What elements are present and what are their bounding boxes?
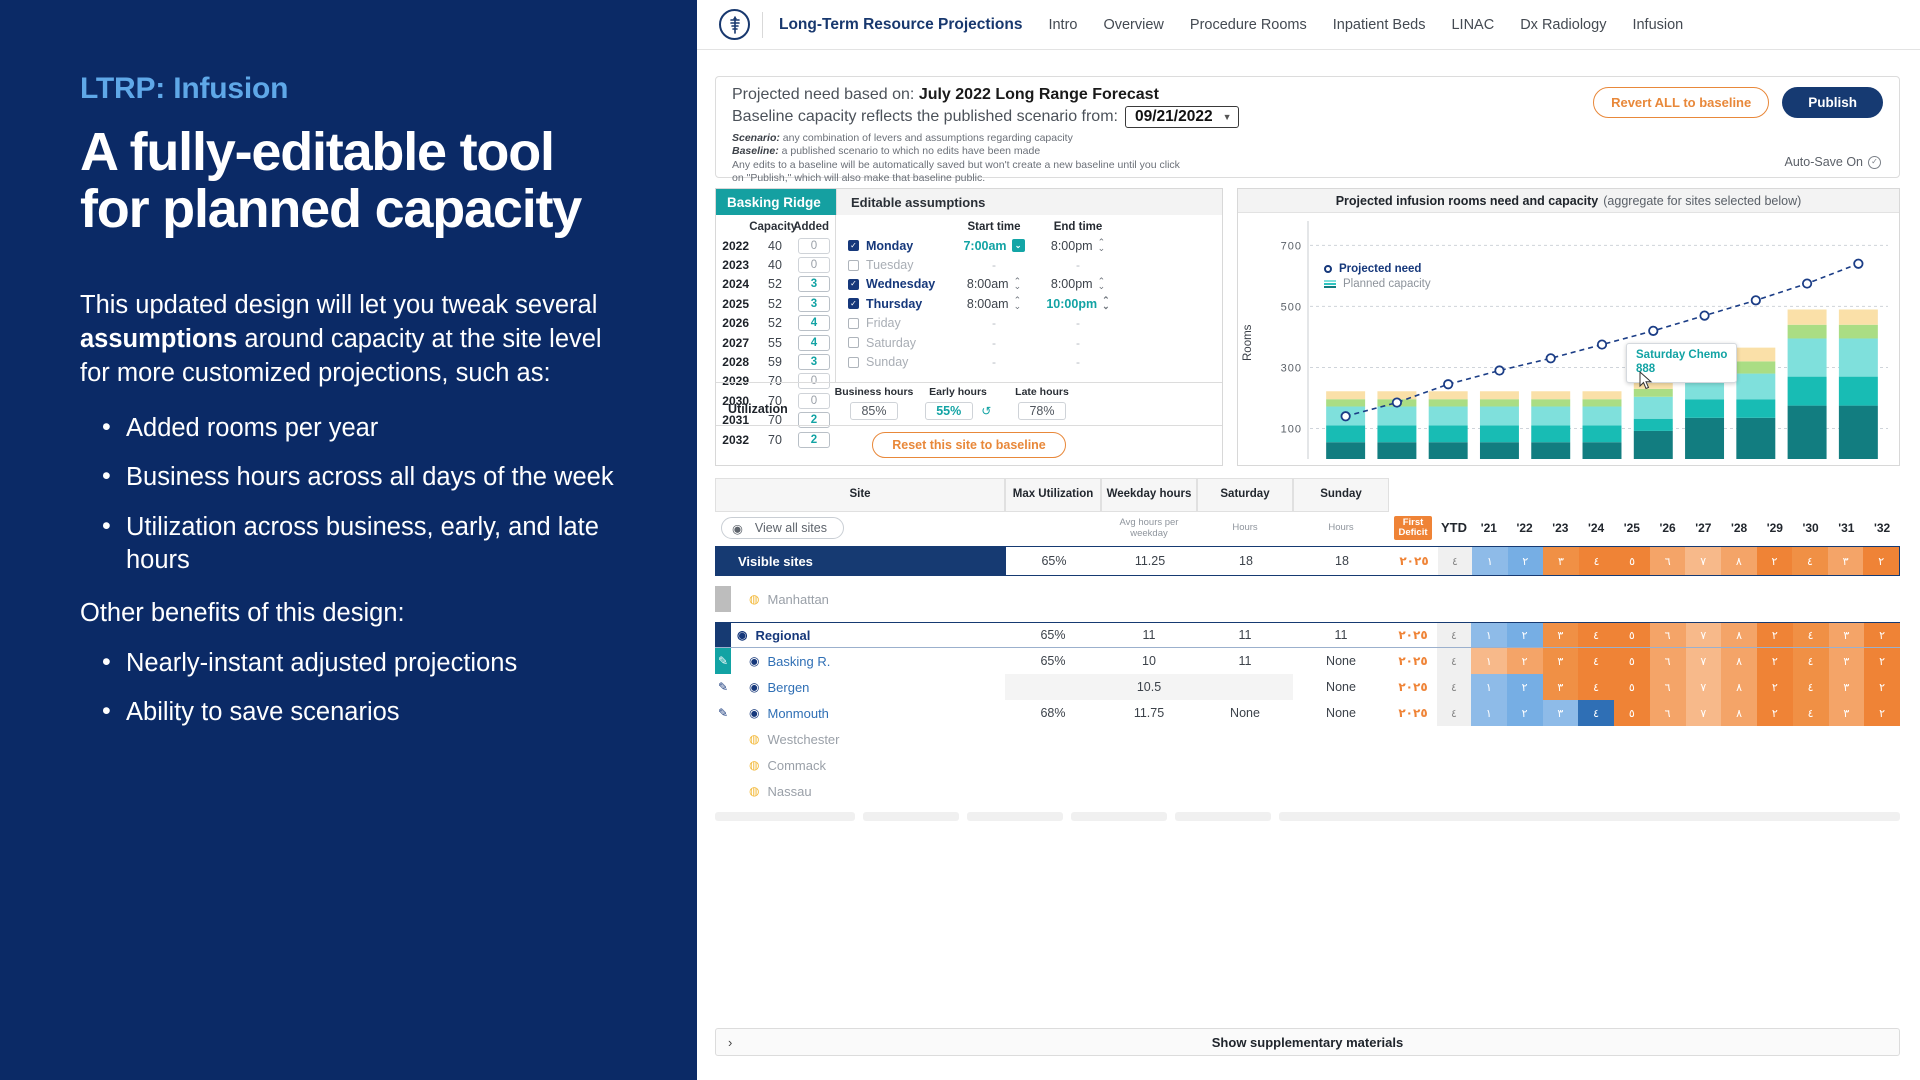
nav-title: Long-Term Resource Projections: [779, 16, 1022, 34]
year-label: 2022: [716, 239, 754, 253]
day-label: Saturday: [866, 336, 916, 350]
assumptions-panel-title: Editable assumptions: [836, 189, 1222, 215]
scenario-actions: Revert ALL to baseline Publish: [1593, 87, 1883, 118]
eye-icon[interactable]: ◉: [749, 654, 759, 668]
early-utilization-input[interactable]: 55%: [925, 402, 973, 420]
stepper-icon[interactable]: ⌃⌄: [1102, 298, 1110, 309]
col-end-time: End time: [1036, 221, 1120, 233]
chart-legend: Projected need Planned capacity: [1324, 263, 1431, 293]
editable-assumptions-card: Basking Ridge Editable assumptions Capac…: [715, 188, 1223, 466]
chart-y-axis-label: Rooms: [1242, 325, 1254, 361]
heat-cell: ٣: [1828, 547, 1864, 575]
heat-cell: ٢: [1864, 674, 1900, 700]
col-year: [716, 221, 749, 233]
capacity-row: 2027554: [716, 333, 835, 352]
stepper-icon[interactable]: ⌃⌄: [1098, 240, 1106, 251]
site-name-cell[interactable]: ◉Monmouth: [731, 700, 1005, 726]
year-column-label: '29: [1757, 521, 1793, 535]
pencil-icon[interactable]: ✎: [718, 680, 728, 694]
heat-cell: ٨: [1721, 648, 1757, 674]
heat-cell: ٣: [1543, 547, 1579, 575]
cell-weekday: [1101, 752, 1197, 778]
site-rows: Visible sites65%11.251818٢٠٢٥٤١٢٣٤٥٦٧٨٢٤…: [715, 546, 1900, 804]
assumptions-body: Capacity Added 2022400202340020245232025…: [716, 215, 1222, 382]
year-column-labels: '21'22'23'24'25'26'27'28'29'30'31'32: [1471, 521, 1900, 535]
day-checkbox[interactable]: [848, 318, 859, 329]
day-label: Friday: [866, 316, 901, 330]
day-checkbox[interactable]: [848, 357, 859, 368]
reset-site-button[interactable]: Reset this site to baseline: [872, 432, 1066, 458]
site-name-cell[interactable]: ◍Manhattan: [731, 586, 1005, 612]
table-row[interactable]: ◉Regional65%111111٢٠٢٥٤١٢٣٤٥٦٧٨٢٤٣٢: [715, 622, 1900, 648]
heat-cell: ٢: [1507, 648, 1543, 674]
sub-ytd: YTD: [1437, 520, 1471, 536]
start-time-cell[interactable]: 7:00am⌄: [952, 239, 1036, 253]
cell-saturday: [1197, 674, 1293, 700]
cell-weekday: 10.5: [1101, 674, 1197, 700]
nav-link-intro[interactable]: Intro: [1048, 17, 1077, 33]
cell-sunday: None: [1293, 700, 1389, 726]
heat-ytd: ٤: [1437, 623, 1471, 647]
cell-weekday: [1101, 726, 1197, 752]
heat-cell: ٧: [1686, 648, 1722, 674]
day-checkbox[interactable]: [848, 337, 859, 348]
heat-cell: ٥: [1614, 547, 1650, 575]
baseline-label: Baseline capacity reflects the published…: [732, 108, 1118, 126]
heat-cell: ٤: [1579, 547, 1615, 575]
heat-cell: ٣: [1829, 648, 1865, 674]
heat-strip-empty: [1437, 586, 1900, 612]
table-header-row: Site Max Utilization Weekday hours Satur…: [715, 478, 1900, 512]
cell-first-deficit: [1389, 586, 1437, 612]
cell-max_util: [1005, 726, 1101, 752]
late-utilization-input[interactable]: 78%: [1018, 402, 1066, 420]
legend-marker-circle-icon: [1324, 265, 1332, 273]
table-row[interactable]: ◍Nassau: [715, 778, 1900, 804]
chart-tooltip: Saturday Chemo 888: [1626, 343, 1737, 383]
heat-strip: ١٢٣٤٥٦٧٨٢٤٣٢: [1471, 623, 1900, 647]
heat-ytd: ٤: [1437, 674, 1471, 700]
revert-all-button[interactable]: Revert ALL to baseline: [1593, 87, 1769, 118]
heat-cell: ١: [1472, 547, 1508, 575]
eye-icon: ◉: [732, 521, 743, 536]
table-row[interactable]: ✎◉Basking R.65%1011None٢٠٢٥٤١٢٣٤٥٦٧٨٢٤٣٢: [715, 648, 1900, 674]
header-max-utilization: Max Utilization: [1005, 478, 1101, 512]
day-checkbox[interactable]: [848, 279, 859, 290]
list-item: Ability to save scenarios: [80, 696, 619, 729]
capacity-row: 2028593: [716, 352, 835, 371]
forecast-label: Projected need based on:: [732, 86, 914, 103]
cell-weekday: [1101, 586, 1197, 612]
cell-saturday: 11: [1197, 648, 1293, 674]
chart-title: Projected infusion rooms need and capaci…: [1238, 189, 1899, 213]
day-row: Thursday8:00am⌃⌄10:00pm⌃⌄: [848, 294, 1212, 313]
cell-sunday: 11: [1293, 623, 1389, 647]
heat-cell: ٧: [1685, 547, 1721, 575]
cell-weekday: 11.25: [1102, 547, 1198, 575]
stepper-icon[interactable]: ⌃⌄: [1014, 279, 1022, 290]
stepper-icon[interactable]: ⌃⌄: [1098, 279, 1106, 290]
header-sunday: Sunday: [1293, 478, 1389, 512]
legend-item-planned-capacity: Planned capacity: [1324, 278, 1431, 290]
added-cell: 4: [796, 315, 832, 331]
heat-ytd: ٤: [1438, 547, 1472, 575]
slide-root: LTRP: Infusion A fully-editable tool for…: [0, 0, 1920, 1080]
end-time-cell: -: [1036, 355, 1120, 369]
svg-text:700: 700: [1281, 240, 1302, 252]
day-hours-table: Start time End time Monday7:00am⌄8:00pm⌃…: [836, 215, 1222, 382]
year-column-label: '32: [1864, 521, 1900, 535]
note-text: any combination of levers and assumption…: [780, 132, 1073, 144]
cell-saturday: [1197, 726, 1293, 752]
heat-cell: ٦: [1650, 547, 1686, 575]
heat-cell: ٨: [1721, 674, 1757, 700]
day-checkbox[interactable]: [848, 298, 859, 309]
added-cell: 3: [796, 354, 832, 370]
show-supplementary-materials-button[interactable]: › Show supplementary materials: [715, 1028, 1900, 1056]
first-deficit-label: FirstDeficit: [1394, 516, 1431, 541]
heat-cell: ٤: [1792, 547, 1828, 575]
tooltip-value: 888: [1636, 362, 1727, 376]
start-time-cell[interactable]: 8:00am⌃⌄: [952, 277, 1036, 291]
view-all-sites-label: View all sites: [755, 521, 827, 535]
cell-first-deficit: ٢٠٢٥: [1389, 623, 1437, 647]
day-row: Monday7:00am⌄8:00pm⌃⌄: [848, 236, 1212, 255]
heat-cell: ١: [1471, 648, 1507, 674]
site-name-cell[interactable]: ◍Commack: [731, 752, 1005, 778]
heat-cell: ٧: [1686, 674, 1722, 700]
cell-sunday: None: [1293, 648, 1389, 674]
heat-cell: ٢: [1864, 623, 1900, 647]
utilization-late: Late hours 78%: [1000, 387, 1084, 420]
heat-cell: ٢: [1863, 547, 1899, 575]
nav-link-infusion[interactable]: Infusion: [1632, 17, 1683, 33]
business-hours-caption: Business hours: [832, 387, 916, 399]
stepper-icon[interactable]: ⌃⌄: [1014, 298, 1022, 309]
note-text: a published scenario to which no edits h…: [779, 145, 1041, 157]
added-rooms-input[interactable]: 3: [798, 354, 830, 370]
added-cell: 3: [796, 276, 832, 292]
end-time-cell: -: [1036, 258, 1120, 272]
eye-icon[interactable]: ◉: [737, 628, 747, 642]
year-column-label: '30: [1793, 521, 1829, 535]
end-time-value: 8:00pm: [1051, 277, 1093, 291]
heat-cell: ٢: [1864, 648, 1900, 674]
header-spacer: [1389, 478, 1900, 512]
cell-sunday: [1293, 586, 1389, 612]
legend-item-projected-need: Projected need: [1324, 263, 1431, 275]
year-column-label: '26: [1650, 521, 1686, 535]
end-time-value: 8:00pm: [1051, 239, 1093, 253]
year-label: 2024: [716, 277, 754, 291]
cell-saturday: [1197, 752, 1293, 778]
cell-max_util: [1005, 778, 1101, 804]
nav-link-inpatient-beds[interactable]: Inpatient Beds: [1333, 17, 1426, 33]
stepper-down-icon[interactable]: ⌄: [1012, 239, 1025, 252]
nav-link-procedure-rooms[interactable]: Procedure Rooms: [1190, 17, 1307, 33]
heat-cell: ٦: [1650, 623, 1686, 647]
added-cell: 0: [796, 257, 832, 273]
day-row: Wednesday8:00am⌃⌄8:00pm⌃⌄: [848, 275, 1212, 294]
day-row: Friday--: [848, 314, 1212, 333]
added-cell: 3: [796, 296, 832, 312]
nav-link-linac[interactable]: LINAC: [1451, 17, 1494, 33]
eye-icon[interactable]: ◉: [749, 680, 759, 694]
day-name-cell: Saturday: [848, 336, 952, 350]
start-time-cell: -: [952, 355, 1036, 369]
heat-strip: ١٢٣٤٥٦٧٨٢٤٣٢: [1471, 700, 1900, 726]
added-rooms-input[interactable]: 3: [798, 296, 830, 312]
day-name-cell: Friday: [848, 316, 952, 330]
heat-cell: ٢: [1508, 547, 1544, 575]
start-time-value: 8:00am: [967, 277, 1009, 291]
eye-icon[interactable]: ◉: [749, 706, 759, 720]
heat-cell: ٣: [1543, 648, 1579, 674]
day-name-cell: Tuesday: [848, 258, 952, 272]
day-name-cell: Thursday: [848, 297, 952, 311]
year-column-label: '31: [1829, 521, 1865, 535]
note-scenario: Scenario: any combination of levers and …: [732, 132, 1883, 145]
heat-cell: ١: [1471, 700, 1507, 726]
cell-sunday: [1293, 752, 1389, 778]
end-time-cell[interactable]: 10:00pm⌃⌄: [1036, 297, 1120, 311]
added-rooms-input[interactable]: 0: [798, 257, 830, 273]
end-time-cell: -: [1036, 336, 1120, 350]
site-name-cell[interactable]: ◉Bergen: [731, 674, 1005, 700]
chart-plot-area: Rooms 100300500700 Projected need Planne…: [1238, 213, 1901, 465]
eye-off-icon[interactable]: ◍: [749, 758, 759, 772]
list-item: Added rooms per year: [80, 412, 619, 445]
site-name: Bergen: [767, 680, 809, 695]
table-row[interactable]: ◍Westchester: [715, 726, 1900, 752]
nav-link-dx-radiology[interactable]: Dx Radiology: [1520, 17, 1606, 33]
capacity-value: 40: [754, 258, 796, 272]
header-saturday: Saturday: [1197, 478, 1293, 512]
year-label: 2025: [716, 297, 754, 311]
site-name: Monmouth: [767, 706, 828, 721]
left-text-panel: LTRP: Infusion A fully-editable tool for…: [0, 0, 697, 1080]
slide-paragraph: This updated design will let you tweak s…: [80, 289, 619, 390]
cell-max_util: 68%: [1005, 700, 1101, 726]
cell-saturday: 11: [1197, 623, 1293, 647]
heat-cell: ٧: [1686, 623, 1722, 647]
app-screenshot: Long-Term Resource Projections Intro Ove…: [697, 0, 1920, 1080]
end-time-value: 10:00pm: [1046, 297, 1097, 311]
day-label: Sunday: [866, 355, 908, 369]
year-column-label: '22: [1507, 521, 1543, 535]
cell-weekday: 11: [1101, 623, 1197, 647]
heat-ytd: ٤: [1437, 648, 1471, 674]
day-label: Monday: [866, 239, 913, 253]
heat-cell: ٤: [1578, 674, 1614, 700]
day-row: Tuesday--: [848, 255, 1212, 274]
day-name-cell: Wednesday: [848, 277, 952, 291]
heat-cell: ٤: [1578, 700, 1614, 726]
heat-cell: ٥: [1614, 674, 1650, 700]
end-time-cell[interactable]: 8:00pm⌃⌄: [1036, 277, 1120, 291]
heat-cell: ٥: [1614, 700, 1650, 726]
legend-label: Projected need: [1339, 263, 1421, 275]
heat-cell: ٦: [1650, 648, 1686, 674]
benefits-heading: Other benefits of this design:: [80, 597, 619, 631]
reset-row: Reset this site to baseline: [716, 425, 1222, 465]
site-name: Visible sites: [738, 554, 813, 569]
cell-max_util: [1005, 586, 1101, 612]
cell-max_util: 65%: [1005, 623, 1101, 647]
table-row[interactable]: Visible sites65%11.251818٢٠٢٥٤١٢٣٤٥٦٧٨٢٤…: [715, 546, 1900, 576]
cell-weekday: [1101, 778, 1197, 804]
heat-cell: ٢: [1507, 674, 1543, 700]
site-name-cell[interactable]: ◍Nassau: [731, 778, 1005, 804]
eye-off-icon[interactable]: ◍: [749, 592, 759, 606]
heat-cell: ٣: [1543, 623, 1579, 647]
site-name: Manhattan: [767, 592, 828, 607]
heat-cell: ٢: [1757, 700, 1793, 726]
tab-site-basking-ridge[interactable]: Basking Ridge: [716, 189, 836, 215]
svg-text:500: 500: [1281, 301, 1302, 313]
chart-subtitle: (aggregate for sites selected below): [1603, 194, 1801, 208]
heat-cell: ٧: [1686, 700, 1722, 726]
col-day: [848, 221, 952, 233]
start-time-cell[interactable]: 8:00am⌃⌄: [952, 297, 1036, 311]
paragraph-bold: assumptions: [80, 325, 237, 353]
sub-sunday: Hours: [1293, 522, 1389, 533]
slide-headline: A fully-editable tool for planned capaci…: [80, 124, 619, 237]
sub-saturday: Hours: [1197, 522, 1293, 533]
note-baseline: Baseline: a published scenario to which …: [732, 145, 1883, 158]
capacity-row: 2025523: [716, 294, 835, 313]
utilization-row: Utilization Business hours 85% Early hou…: [716, 382, 1222, 425]
cell-first-deficit: [1389, 726, 1437, 752]
heat-strip-empty: [1437, 778, 1900, 804]
cell-saturday: [1197, 778, 1293, 804]
year-label: 2026: [716, 316, 754, 330]
site-name-cell[interactable]: Visible sites: [732, 547, 1006, 575]
heat-cell: ٢: [1757, 674, 1793, 700]
start-time-value: 7:00am: [963, 239, 1006, 253]
site-name-cell[interactable]: ◍Westchester: [731, 726, 1005, 752]
table-row[interactable]: ◍Commack: [715, 752, 1900, 778]
site-name: Regional: [755, 628, 810, 643]
heat-cell: ٣: [1829, 700, 1865, 726]
site-name-cell[interactable]: ◉Basking R.: [731, 648, 1005, 674]
pencil-icon[interactable]: ✎: [718, 706, 728, 720]
capacity-row: 2022400: [716, 236, 835, 255]
year-label: 2028: [716, 355, 754, 369]
day-name-cell: Sunday: [848, 355, 952, 369]
forecast-value: July 2022 Long Range Forecast: [919, 86, 1159, 103]
added-rooms-input[interactable]: 0: [798, 238, 830, 254]
col-added: Added: [793, 221, 829, 233]
note-plain-2: on "Publish," which will also make that …: [732, 172, 1883, 185]
pencil-icon[interactable]: ✎: [718, 654, 728, 668]
slide-bullet-list: Added rooms per year Business hours acro…: [80, 412, 619, 577]
undo-icon[interactable]: ↺: [981, 404, 991, 418]
day-row: Sunday--: [848, 352, 1212, 371]
eye-off-icon[interactable]: ◍: [749, 732, 759, 746]
chevron-right-icon: ›: [728, 1035, 732, 1050]
capacity-row: 2024523: [716, 275, 835, 294]
sub-weekday-hours: Avg hours per weekday: [1101, 517, 1197, 540]
tooltip-label: Saturday Chemo: [1636, 348, 1727, 362]
start-time-cell: -: [952, 258, 1036, 272]
business-utilization-input[interactable]: 85%: [850, 402, 898, 420]
table-subheader-row: ◉ View all sites Avg hours per weekday H…: [715, 512, 1900, 544]
horizontal-scroll-stub[interactable]: [715, 812, 1900, 821]
capacity-years-table: Capacity Added 2022400202340020245232025…: [716, 215, 836, 382]
heat-cell: ٣: [1543, 674, 1579, 700]
slide-benefits-list: Nearly-instant adjusted projections Abil…: [80, 647, 619, 729]
day-checkbox[interactable]: [848, 240, 859, 251]
late-hours-caption: Late hours: [1000, 387, 1084, 399]
day-checkbox[interactable]: [848, 260, 859, 271]
legend-stack-icon: [1324, 280, 1336, 289]
heat-cell: ٥: [1614, 648, 1650, 674]
nav-divider: [762, 12, 763, 38]
publish-button[interactable]: Publish: [1782, 87, 1883, 118]
baseline-date-select[interactable]: 09/21/2022 ▼: [1125, 106, 1240, 128]
capacity-row: 2023400: [716, 255, 835, 274]
view-all-sites-button[interactable]: ◉ View all sites: [721, 517, 844, 539]
heat-cell: ٦: [1650, 700, 1686, 726]
svg-text:100: 100: [1281, 423, 1302, 435]
scenario-notes: Scenario: any combination of levers and …: [732, 132, 1883, 186]
heat-cell: ٣: [1543, 700, 1579, 726]
heat-cell: ٤: [1793, 700, 1829, 726]
cell-first-deficit: ٢٠٢٥: [1390, 547, 1438, 575]
heat-cell: ٢: [1864, 700, 1900, 726]
added-cell: 4: [796, 335, 832, 351]
heat-cell: ٥: [1614, 623, 1650, 647]
msk-logo-icon[interactable]: [719, 9, 750, 40]
added-rooms-input[interactable]: 3: [798, 276, 830, 292]
projection-chart-card: Projected infusion rooms need and capaci…: [1237, 188, 1900, 466]
eye-off-icon[interactable]: ◍: [749, 784, 759, 798]
table-row[interactable]: ✎◉Monmouth68%11.75NoneNone٢٠٢٥٤١٢٣٤٥٦٧٨٢…: [715, 700, 1900, 726]
end-time-cell[interactable]: 8:00pm⌃⌄: [1036, 239, 1120, 253]
table-row[interactable]: ✎◉Bergen10.5None٢٠٢٥٤١٢٣٤٥٦٧٨٢٤٣٢: [715, 674, 1900, 700]
note-term: Baseline:: [732, 145, 779, 157]
added-rooms-input[interactable]: 4: [798, 335, 830, 351]
end-time-cell: -: [1036, 316, 1120, 330]
cell-max_util: [1005, 752, 1101, 778]
heat-strip: ١٢٣٤٥٦٧٨٢٤٣٢: [1471, 648, 1900, 674]
year-column-label: '25: [1614, 521, 1650, 535]
nav-link-overview[interactable]: Overview: [1103, 17, 1163, 33]
view-all-sites-cell: ◉ View all sites: [715, 517, 1005, 539]
header-weekday-hours: Weekday hours: [1101, 478, 1197, 512]
heat-cell: ٤: [1793, 674, 1829, 700]
col-capacity: Capacity: [749, 221, 793, 233]
cell-max_util: 65%: [1006, 547, 1102, 575]
cell-first-deficit: ٢٠٢٥: [1389, 674, 1437, 700]
utilization-label: Utilization: [728, 402, 832, 420]
cell-max_util: 65%: [1005, 648, 1101, 674]
added-rooms-input[interactable]: 4: [798, 315, 830, 331]
heat-cell: ١: [1471, 623, 1507, 647]
chart-title-main: Projected infusion rooms need and capaci…: [1336, 194, 1599, 208]
header-site: Site: [715, 478, 1005, 512]
heat-ytd: ٤: [1437, 700, 1471, 726]
chevron-down-icon: ▼: [1223, 112, 1232, 122]
site-name-cell[interactable]: ◉Regional: [731, 623, 1005, 647]
cell-first-deficit: [1389, 778, 1437, 804]
cell-sunday: [1293, 726, 1389, 752]
year-column-label: '28: [1721, 521, 1757, 535]
note-plain-1: Any edits to a baseline will be automati…: [732, 159, 1883, 172]
table-row[interactable]: ◍Manhattan: [715, 586, 1900, 612]
autosave-label: Auto-Save On: [1784, 155, 1863, 169]
